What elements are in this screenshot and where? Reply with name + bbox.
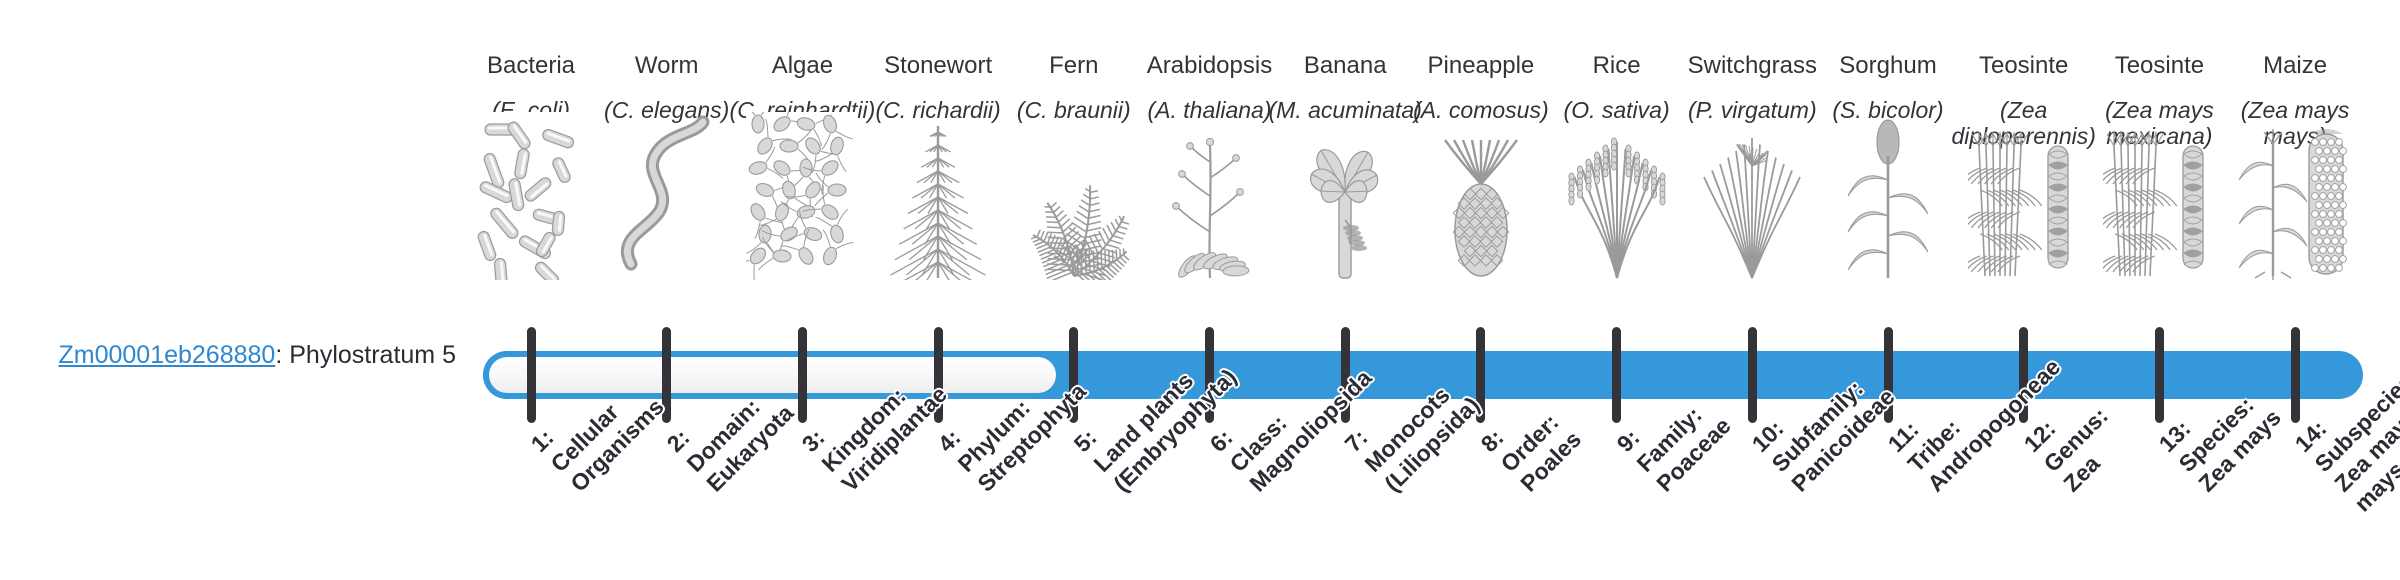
tick-mark-9: [1612, 327, 1621, 423]
species-column-13: Teosinte(Zea mays mexicana): [2091, 0, 2227, 580]
tick-mark-3: [798, 327, 807, 423]
gene-phylostratum-label: Zm00001eb268880: Phylostratum 5: [36, 340, 456, 371]
species-column-14: Maize(Zea mays mays): [2227, 0, 2363, 580]
species-column-2: Worm(C. elegans): [599, 0, 735, 580]
species-column-6: Arabidopsis(A. thaliana): [1142, 0, 1278, 580]
species-common-name: Maize: [2213, 52, 2377, 80]
tick-mark-13: [2155, 327, 2164, 423]
phylostratum-value-text: Phylostratum 5: [289, 341, 456, 369]
species-column-12: Teosinte(Zea diploperennis): [1956, 0, 2092, 580]
species-column-4: Stonewort(C. richardii): [870, 0, 1006, 580]
gene-label-separator: :: [275, 341, 289, 369]
species-column-5: Fern(C. braunii): [1006, 0, 1142, 580]
maize-plant-cob-icon: [2209, 168, 2381, 280]
phylostratigraphy-figure: Zm00001eb268880: Phylostratum 5 Bacteria…: [0, 0, 2400, 580]
tick-mark-1: [527, 327, 536, 423]
species-column-7: Banana(M. acuminata): [1277, 0, 1413, 580]
gene-id-link[interactable]: Zm00001eb268880: [58, 341, 275, 369]
species-column-10: Switchgrass(P. virgatum): [1684, 0, 1820, 580]
species-column-3: Algae(C. reinhardtii): [734, 0, 870, 580]
species-column-1: Bacteria(E. coli): [463, 0, 599, 580]
tick-mark-14: [2291, 327, 2300, 423]
species-column-11: Sorghum(S. bicolor): [1820, 0, 1956, 580]
species-column-9: Rice(O. sativa): [1549, 0, 1685, 580]
tick-mark-10: [1748, 327, 1757, 423]
species-column-8: Pineapple(A. comosus): [1413, 0, 1549, 580]
